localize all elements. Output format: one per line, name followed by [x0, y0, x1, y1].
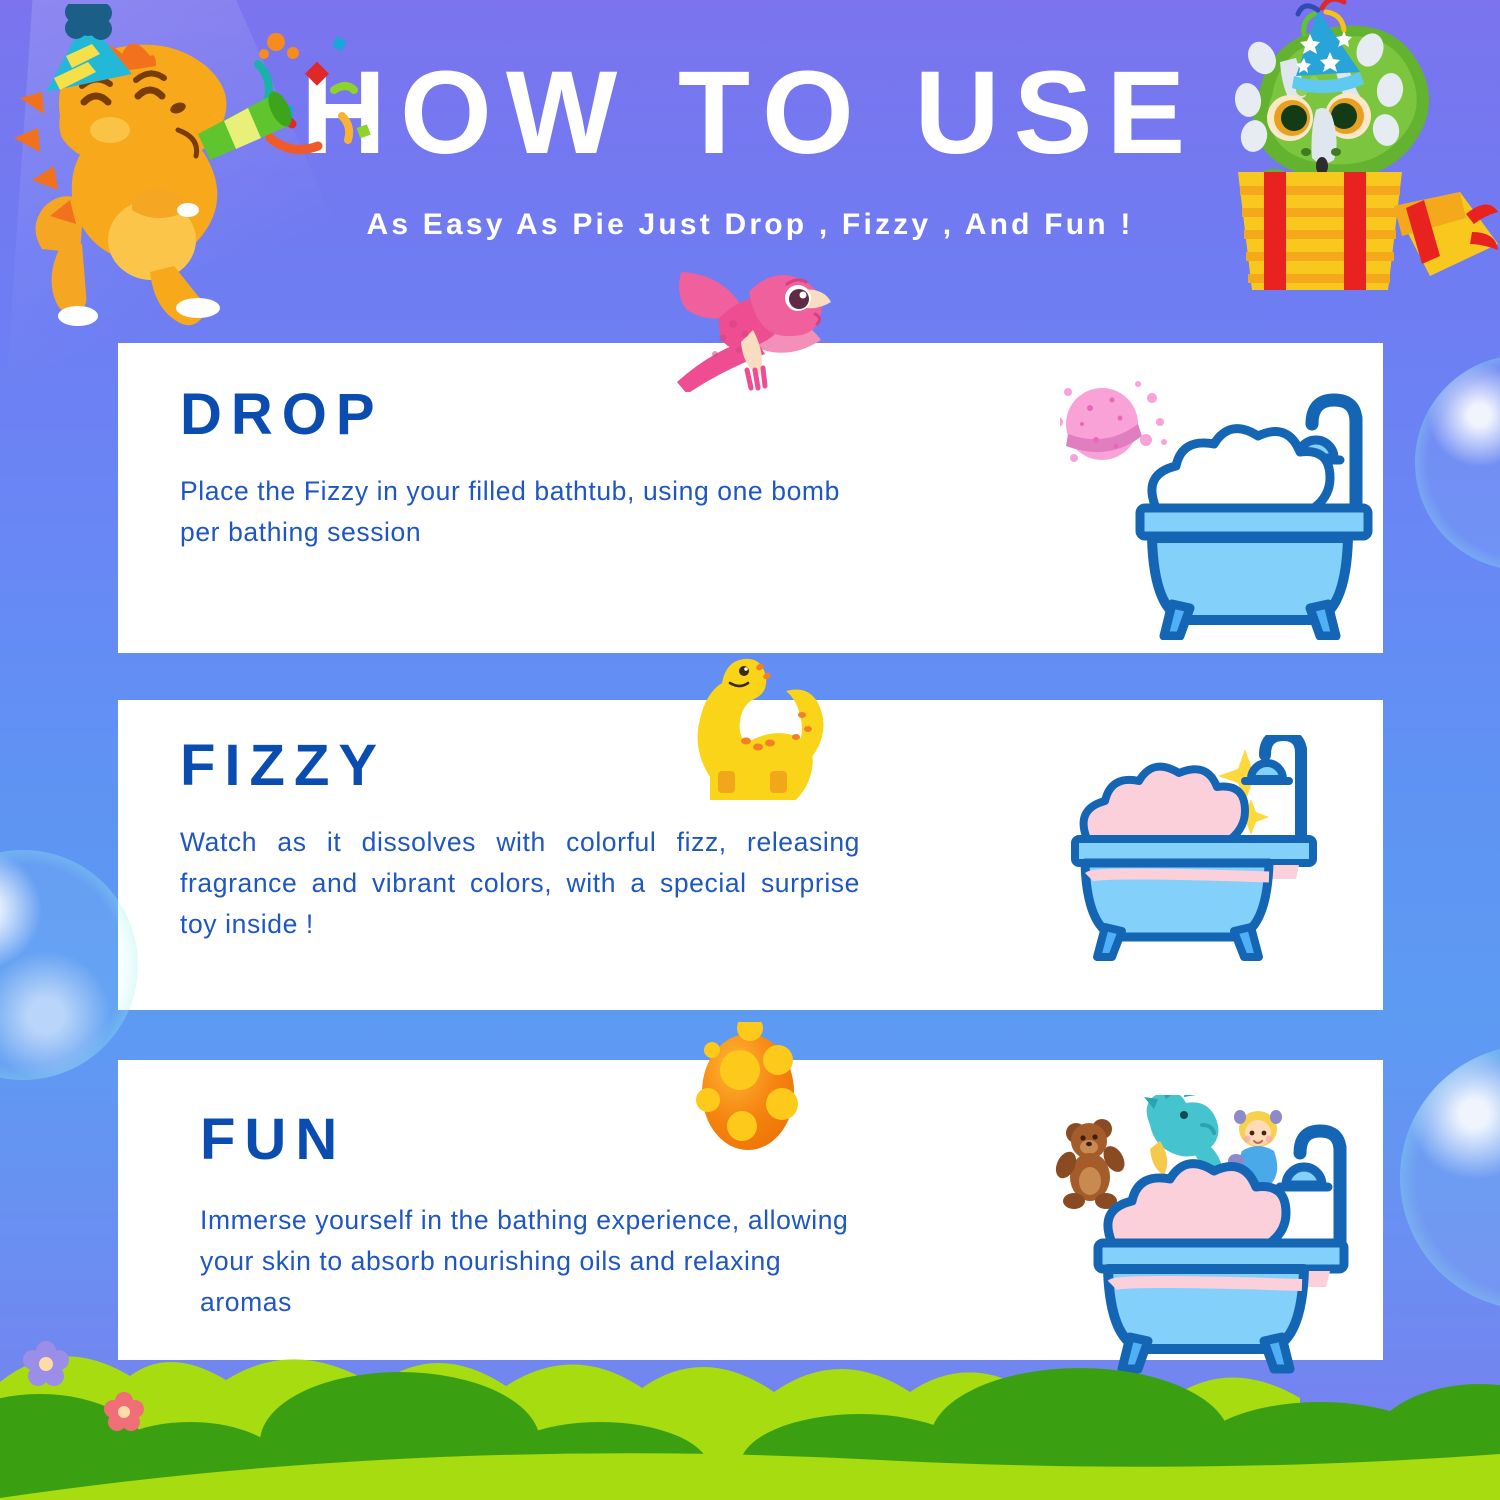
step-heading-fun: FUN — [200, 1106, 346, 1173]
pink-pterodactyl-icon — [655, 262, 870, 392]
bathtub-with-bath-bomb-icon — [1060, 380, 1400, 640]
orange-trex-mascot-icon — [2, 4, 302, 334]
step-body-drop: Place the Fizzy in your filled bathtub, … — [180, 471, 870, 553]
grass-hills-icon — [0, 1320, 1500, 1500]
step-heading-fizzy: FIZZY — [180, 732, 386, 799]
soap-bubble-icon — [1415, 355, 1500, 570]
step-body-fun: Immerse yourself in the bathing experien… — [200, 1200, 880, 1323]
green-triceratops-gift-icon — [1218, 0, 1500, 320]
poster-canvas: HOW TO USE As Easy As Pie Just Drop , Fi… — [0, 0, 1500, 1500]
bathtub-with-pink-foam-icon — [1055, 735, 1355, 985]
dinosaur-egg-icon — [690, 1022, 810, 1152]
step-heading-drop: DROP — [180, 381, 384, 448]
yellow-brontosaurus-icon — [660, 645, 845, 800]
teddy-bear-icon — [1052, 1119, 1129, 1209]
step-body-fizzy: Watch as it dissolves with colorful fizz… — [180, 822, 860, 945]
soap-bubble-icon — [1400, 1045, 1500, 1310]
